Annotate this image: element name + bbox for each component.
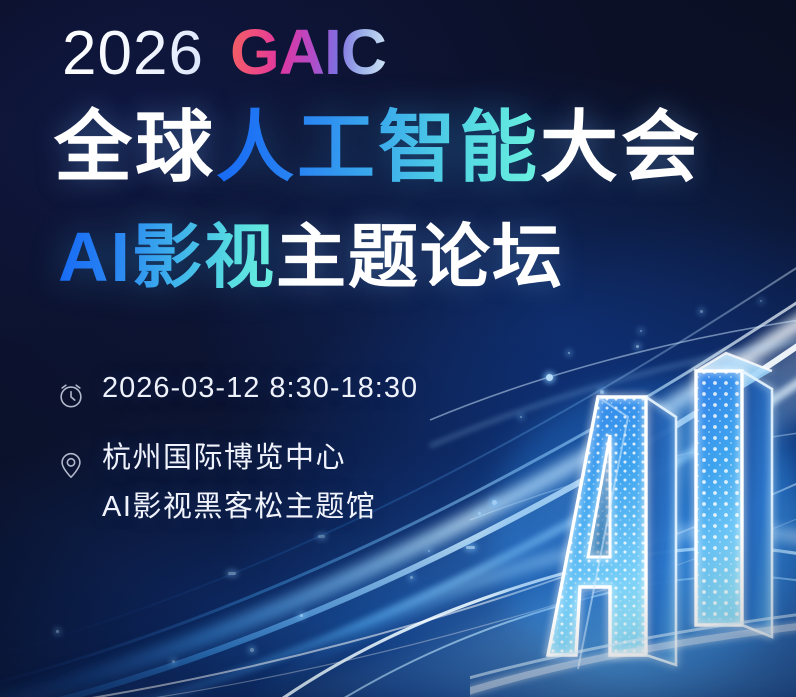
- venue-line-1: 杭州国际博览中心: [102, 444, 376, 473]
- headline-part-1: 全球: [54, 103, 216, 191]
- map-pin-icon: [56, 450, 86, 480]
- alarm-clock-icon: [56, 380, 86, 410]
- gaic-logo-text: GAIC: [230, 20, 386, 84]
- brand-row: 2026 GAIC: [62, 20, 386, 85]
- event-poster: 2026 GAIC 全球人工智能大会 AI影视主题论坛 2026-03-12 8…: [0, 0, 796, 697]
- datetime-row: 2026-03-12 8:30-18:30: [56, 374, 418, 410]
- page-title: 全球人工智能大会: [54, 108, 702, 186]
- headline-part-2: 人工智能: [216, 103, 540, 191]
- event-datetime: 2026-03-12 8:30-18:30: [102, 374, 418, 403]
- venue-line-2: AI影视黑客松主题馆: [102, 493, 376, 522]
- subheadline-part-2: 主题论坛: [276, 218, 564, 296]
- headline-part-3: 大会: [540, 103, 702, 191]
- location-row: 杭州国际博览中心 AI影视黑客松主题馆: [56, 444, 418, 522]
- venue-lines: 杭州国际博览中心 AI影视黑客松主题馆: [102, 444, 376, 522]
- subheadline-part-1: AI影视: [58, 218, 276, 296]
- page-subtitle: AI影视主题论坛: [58, 222, 564, 292]
- year-label: 2026: [62, 23, 204, 85]
- event-details: 2026-03-12 8:30-18:30 杭州国际博览中心 AI影视黑客松主题…: [56, 374, 418, 522]
